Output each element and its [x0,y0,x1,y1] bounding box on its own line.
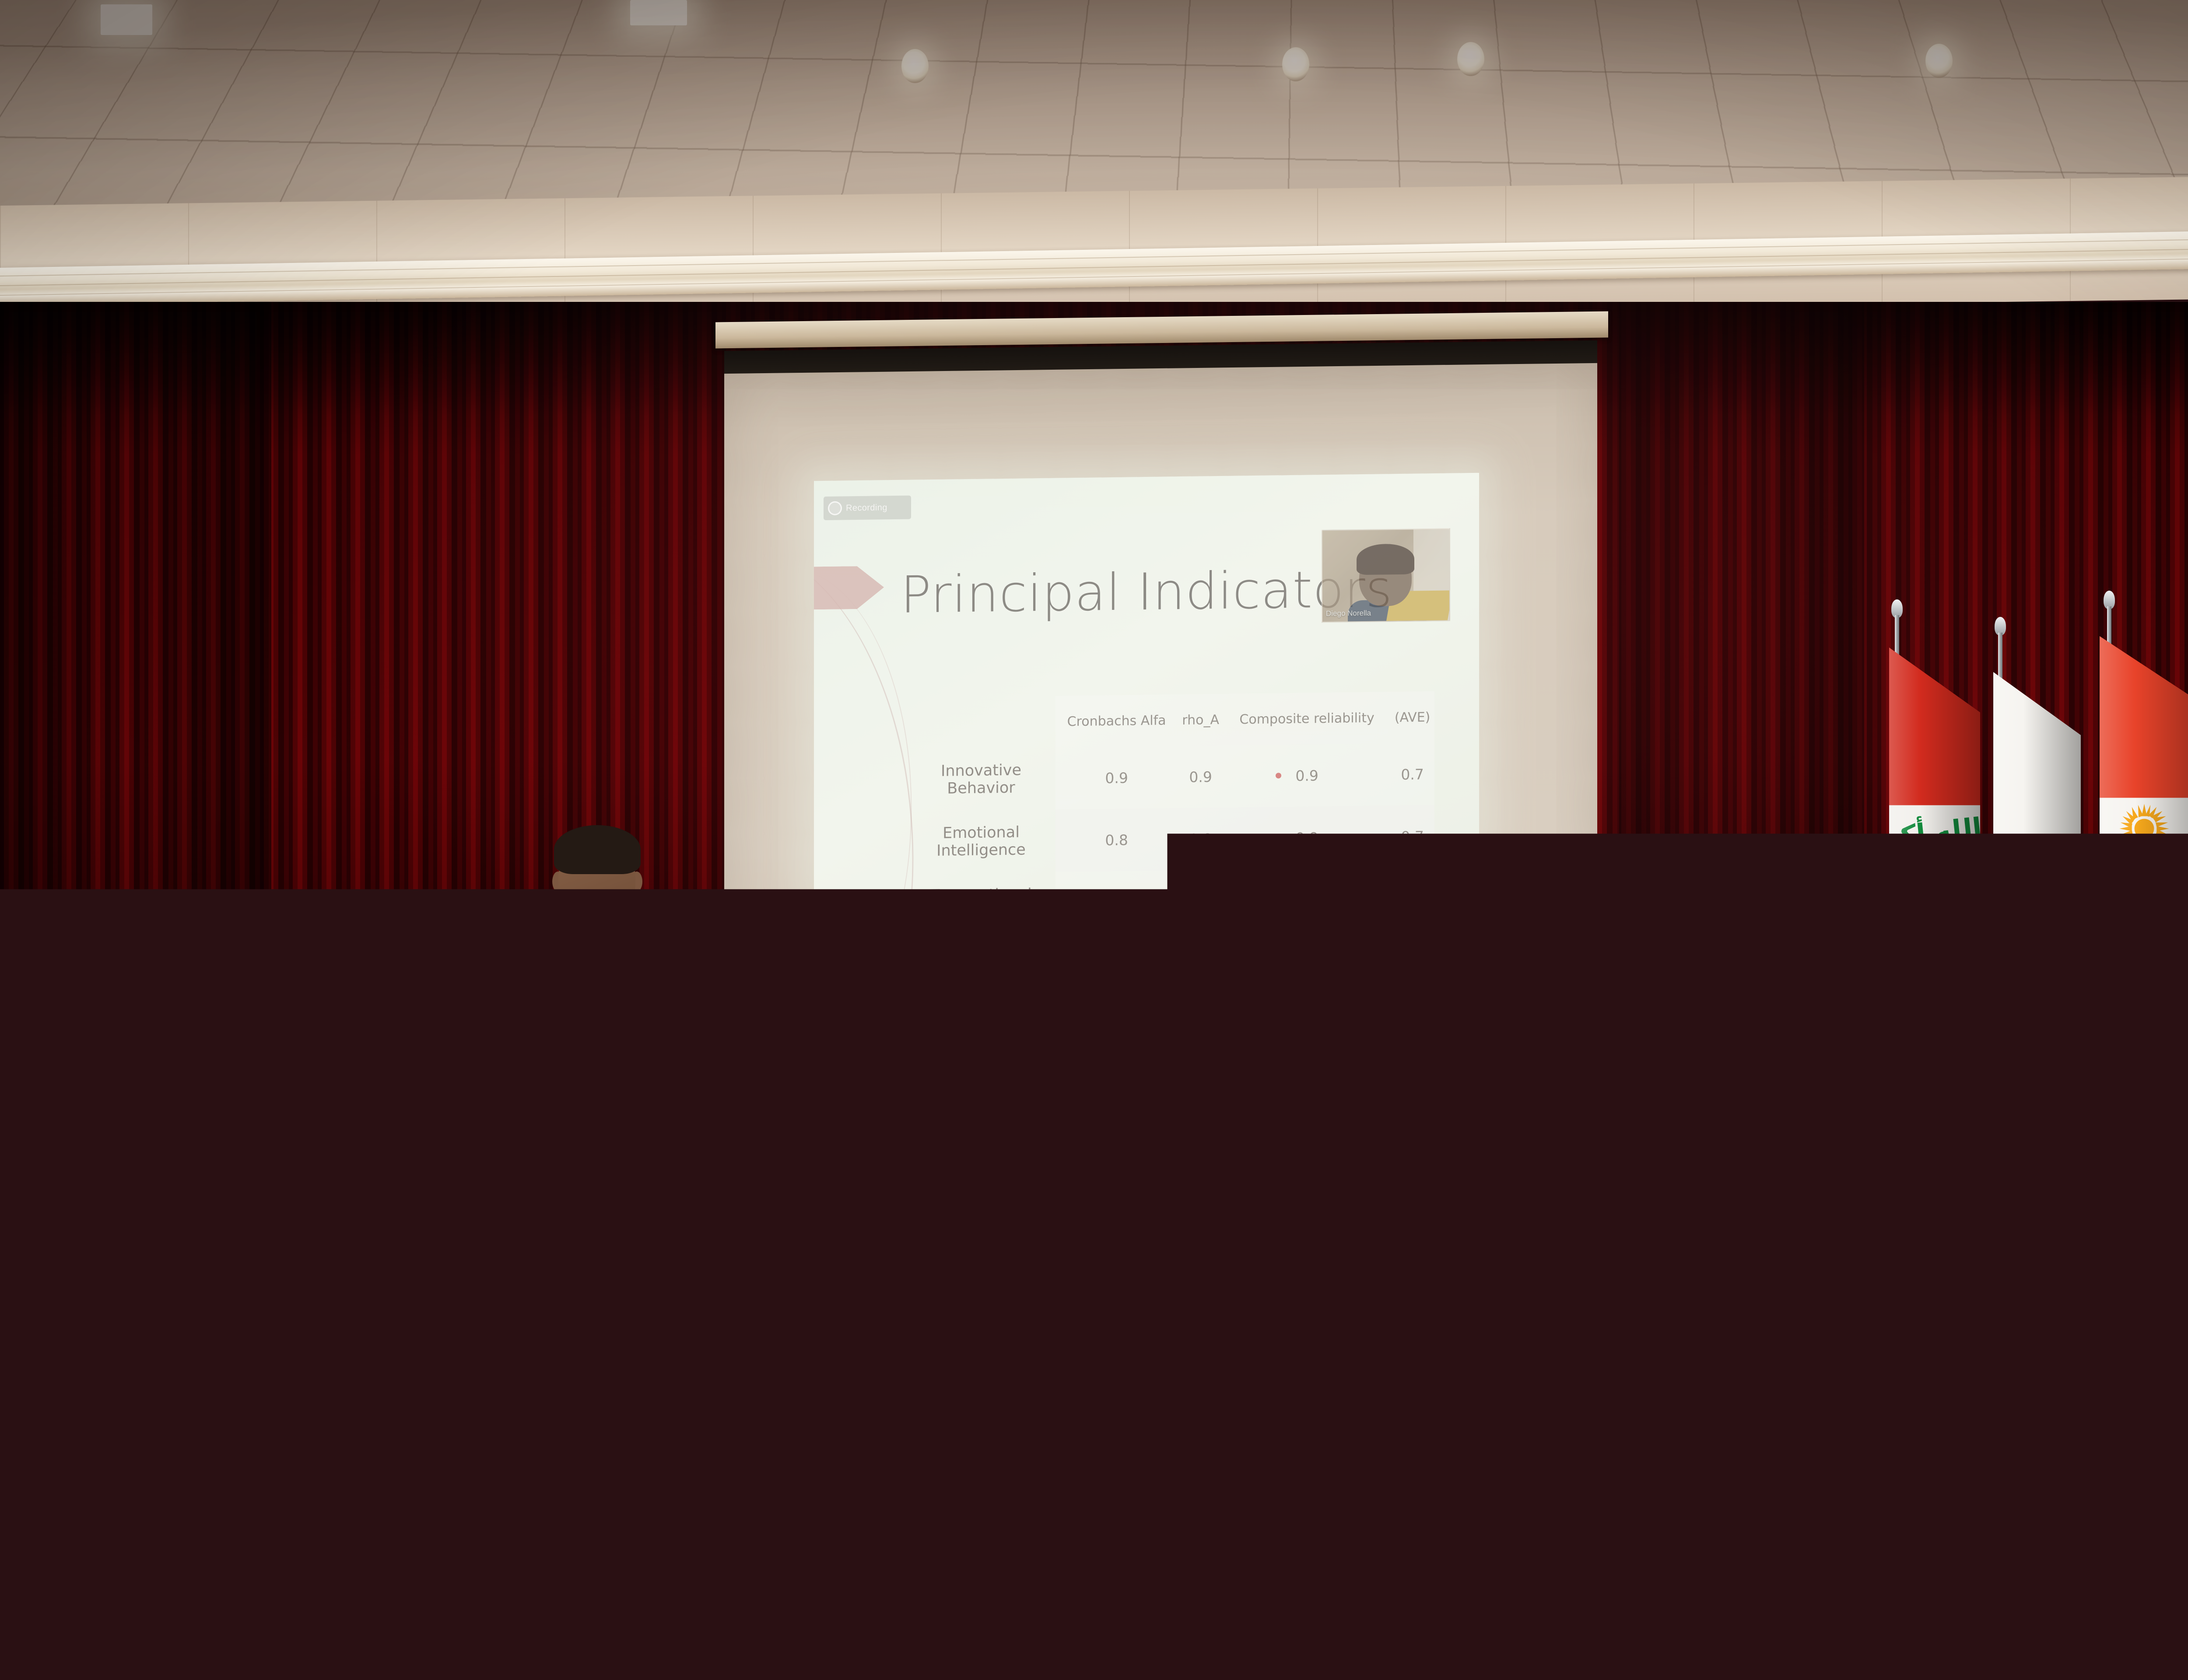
tissue-sheet [938,1067,974,1086]
webcam-name-label: Diego Norella [1326,609,1371,618]
table-microphone-stem [747,962,751,1107]
placard-brand-suffix: 2023 [740,1086,766,1096]
recording-badge: Recording [824,496,911,520]
chair-empty[interactable] [1641,960,1834,1218]
table-cell: 0.9 [1055,746,1178,809]
conference-hall-photo: Recording Principal Indicators Diego Nor… [0,0,2188,1680]
person-hair [554,825,641,874]
chair-back-cushion [1674,978,1798,1086]
chair-back-handle-slot [1717,967,1768,974]
table-cell: 0.9 [1224,805,1390,870]
tissue-box [906,1080,1006,1119]
table-cell: 0.9 [1224,743,1390,808]
record-dot-icon [828,501,842,515]
banner-content: بەخێرهاتنی میوانە بەڕێزەکان دەکەین نرحب … [607,1242,2188,1611]
table-row: Innovative Behavior 0.9 0.9 0.9 0.7 [907,743,1434,812]
table-microphone-head [741,945,756,967]
webcam-hair [1357,544,1414,575]
chair-background-left-crest [14,1123,72,1150]
placard-logo-icon-1 [719,1076,728,1085]
placard-name: Dr. Waqar Ahmed [679,1099,796,1109]
chair-stretcher-bar [1662,1169,1809,1174]
projected-slide: Recording Principal Indicators Diego Nor… [814,473,1479,919]
banner-kurdish-text: بەخێرهاتنی میوانە بەڕێزەکان دەکەین [889,1314,2071,1400]
table-cell: 0.7 [1390,743,1434,805]
placard-footer: International Conference on Applied Busi… [679,1117,796,1122]
recording-badge-label: Recording [846,503,887,513]
placard-brand: ICABU2023 [679,1085,796,1098]
table-cell: 0.7 [1390,805,1434,868]
table-row-label: Innovative Behavior [907,748,1055,812]
table-header-row: Cronbachs Alfa rho_A Composite reliabili… [907,691,1434,749]
table-col-header-3: Composite reliability [1224,692,1390,745]
poland-flag [1959,617,2042,1238]
table-cell: 0.8 [1178,808,1224,870]
table-cell: 0.7 [1055,870,1178,918]
flag-cloth [2100,636,2188,1126]
iraq-flag: الله أكبر [1855,599,1939,1238]
projection-screen: Recording Principal Indicators Diego Nor… [724,346,1597,1089]
banner-arabic-text: نرحب بالضيوف الكرام [1234,1393,1725,1450]
table-cell: 0.8 [1055,808,1178,871]
table-col-header-0 [907,696,1055,749]
table-cell: 0.8 [1224,868,1390,918]
webcam-thumbnail: Diego Norella [1322,528,1450,623]
kurdistan-flag [2061,591,2157,1238]
banner-english-text: Welcome our Distinguished Guests [972,1449,1987,1538]
salahaddin-university-flag: ERBIL SALAHADDIN [2179,604,2188,1238]
table-row-label: Emotional Intelligence [907,810,1055,874]
table-cell: 0.6 [1390,867,1434,918]
placard-role: SESSION CHAIR [679,1108,796,1116]
table-col-header-1: Cronbachs Alfa [1055,694,1178,747]
table-cell: 0.7 [1178,870,1224,918]
table-row: Emotional Intelligence 0.8 0.8 0.9 0.7 [907,805,1434,874]
table-col-header-4: (AVE) [1390,691,1434,743]
table-cell: 0.9 [1178,745,1224,808]
table-row-label: Transactional Leadership [907,872,1055,919]
welcome-banner: بەخێرهاتنی میوانە بەڕێزەکان دەکەین نرحب … [591,1228,2188,1627]
placard-logo-row [679,1075,796,1086]
placard-brand-prefix: ICABU [710,1086,740,1096]
table-col-header-2: rho_A [1178,694,1224,746]
name-placard: ICABU2023 Dr. Waqar Ahmed SESSION CHAIR … [678,1070,797,1135]
placard-logo-icon-2 [733,1076,742,1085]
flag-row: الله أكبر [1855,564,2188,1238]
indicators-table: Cronbachs Alfa rho_A Composite reliabili… [907,691,1434,918]
table-row: Transactional Leadership 0.7 0.7 0.8 0.6 [907,867,1434,918]
